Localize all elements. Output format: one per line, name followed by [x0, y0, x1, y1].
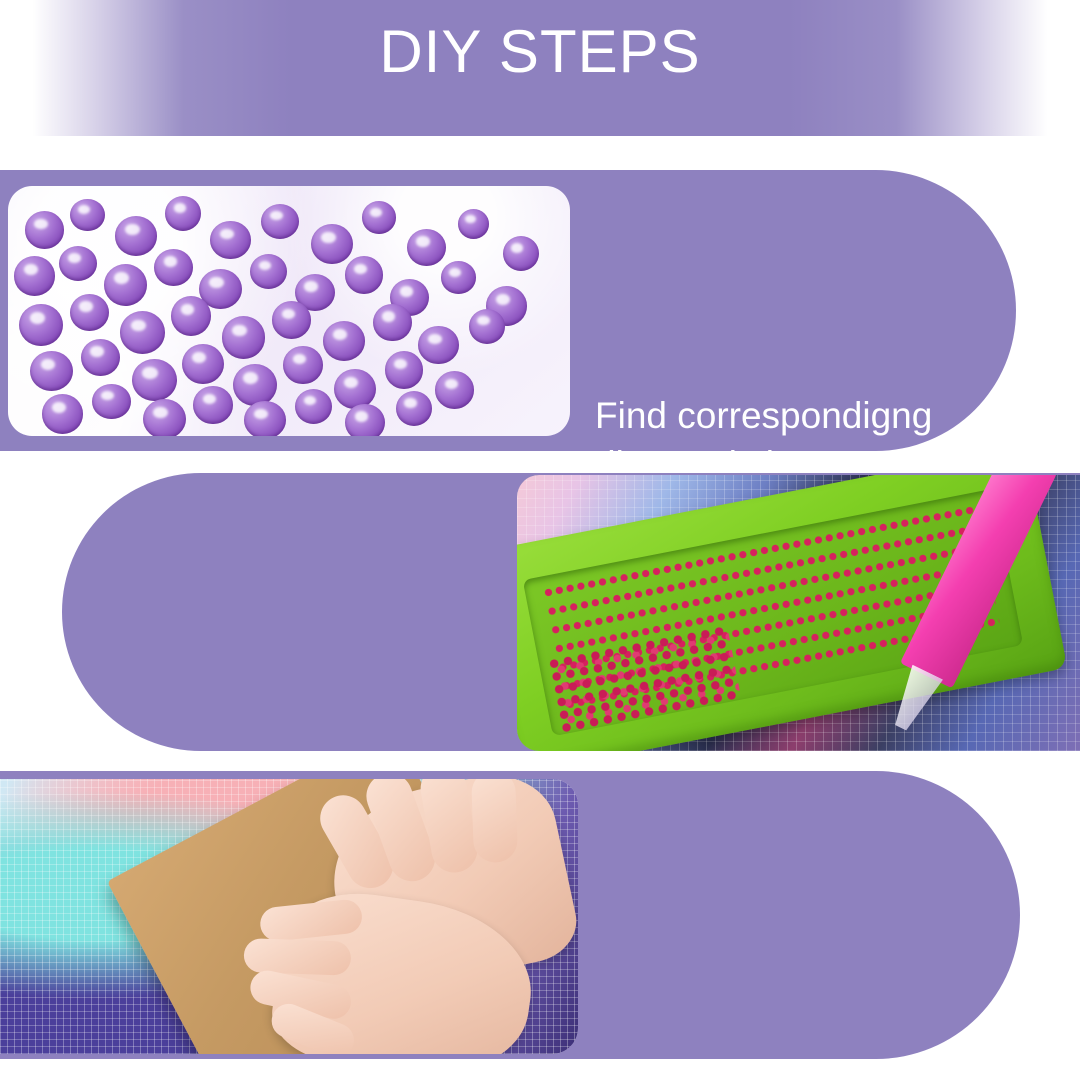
green-tray-drill-pen-photo: [517, 475, 1080, 751]
step-1-line-2: diamonds bag: [595, 441, 932, 451]
drill-cluster: [8, 186, 570, 436]
step-1-line-1: Find correspondigng: [595, 392, 932, 441]
step-panel-1: Find correspondigng diamonds bag accordi…: [0, 170, 1016, 451]
step-panel-3: Note Book Press the finished painting to…: [0, 771, 1020, 1059]
step-panel-2: Easy Point drill Select the diamond and …: [62, 473, 1080, 751]
step-1-text: Find correspondigng diamonds bag accordi…: [595, 392, 932, 451]
purple-diamond-drills-photo: [8, 186, 570, 436]
page-header: DIY STEPS: [0, 0, 1080, 136]
hands-pressing-notebook-photo: Note Book: [0, 779, 578, 1054]
page-title: DIY STEPS: [379, 22, 700, 82]
